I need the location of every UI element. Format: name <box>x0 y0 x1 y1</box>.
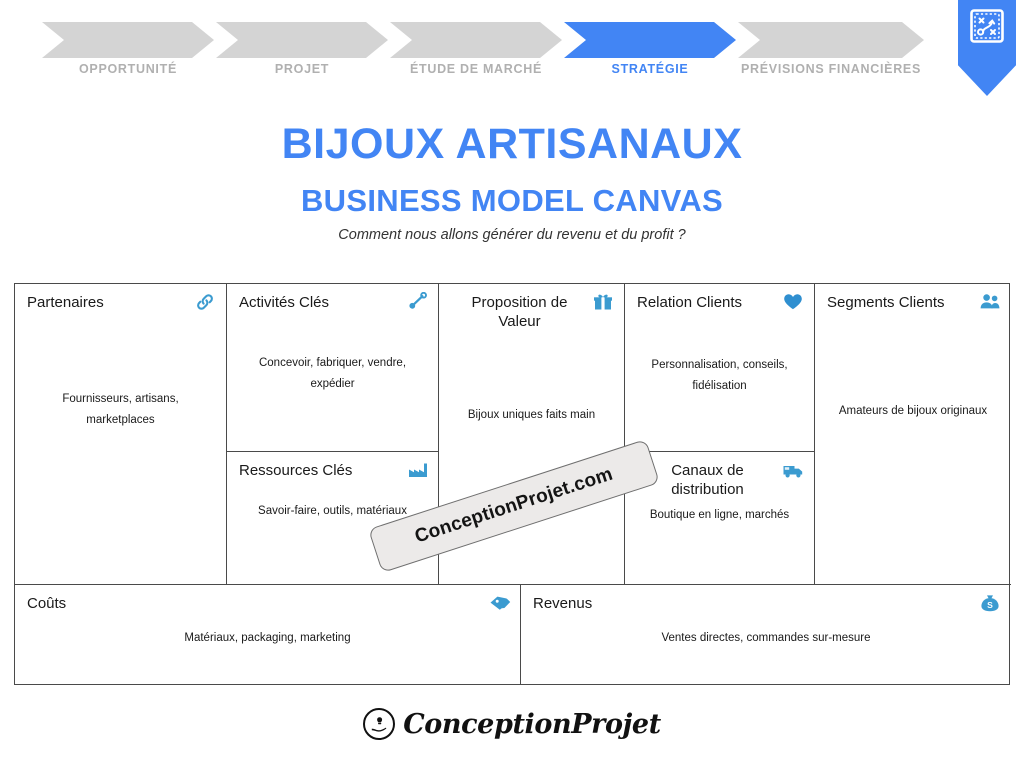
factory-icon <box>406 460 428 480</box>
footer-logo[interactable]: ConceptionProjet <box>0 708 1024 740</box>
step-arrow-shape <box>390 22 562 58</box>
cell-body: Concevoir, fabriquer, vendre, expédier <box>227 353 438 396</box>
cell-title: Revenus <box>533 594 1001 613</box>
cell-body: Matériaux, packaging, marketing <box>15 628 520 649</box>
gift-icon <box>592 292 614 312</box>
cell-title: Partenaires <box>27 293 216 312</box>
cell-title: Coûts <box>27 594 510 613</box>
cell-title: Activités Clés <box>239 293 428 312</box>
step-label: ÉTUDE DE MARCHÉ <box>390 62 562 76</box>
shovel-icon <box>406 292 428 312</box>
canvas-cell-segments-clients[interactable]: Segments Clients Amateurs de bijoux orig… <box>815 284 1011 584</box>
step-arrow-shape <box>738 22 924 58</box>
cell-body: Boutique en ligne, marchés <box>625 505 814 526</box>
cell-header: Ressources Clés <box>227 452 438 487</box>
step-opportunite[interactable]: OPPORTUNITÉ <box>42 22 214 58</box>
people-group-icon <box>979 292 1001 312</box>
cell-header: Relation Clients <box>625 284 814 319</box>
cell-header: Coûts <box>15 585 520 620</box>
page-tagline: Comment nous allons générer du revenu et… <box>0 227 1024 243</box>
cell-body: Ventes directes, commandes sur-mesure <box>521 628 1011 649</box>
hand-holding-lightbulb-icon <box>363 708 395 740</box>
chain-link-icon <box>194 292 216 312</box>
delivery-truck-icon <box>782 460 804 480</box>
cell-header: Revenus S <box>521 585 1011 620</box>
cell-title: Relation Clients <box>637 293 804 312</box>
page-subtitle: BUSINESS MODEL CANVAS <box>0 183 1024 219</box>
cell-body: Bijoux uniques faits main <box>439 405 624 426</box>
step-etude-de-marche[interactable]: ÉTUDE DE MARCHÉ <box>390 22 562 58</box>
cell-body: Fournisseurs, artisans, marketplaces <box>15 389 226 432</box>
step-arrow-shape <box>216 22 388 58</box>
cell-title: Ressources Clés <box>239 461 428 480</box>
step-strategie[interactable]: STRATÉGIE <box>564 22 736 58</box>
footer-brand-name: ConceptionProjet <box>403 709 661 740</box>
heart-icon <box>782 292 804 312</box>
canvas-cell-activites-cles[interactable]: Activités Clés Concevoir, fabriquer, ven… <box>227 284 439 452</box>
money-bag-icon: S <box>979 593 1001 613</box>
canvas-cell-relation-clients[interactable]: Relation Clients Personnalisation, conse… <box>625 284 815 452</box>
step-label: PRÉVISIONS FINANCIÈRES <box>738 62 924 76</box>
step-label: PROJET <box>216 62 388 76</box>
cell-body: Personnalisation, conseils, fidélisation <box>625 355 814 398</box>
cell-title: Segments Clients <box>827 293 1001 312</box>
cell-header: Proposition de Valeur <box>439 284 624 331</box>
cell-title: Proposition de Valeur <box>451 293 614 331</box>
strategy-playbook-icon <box>969 8 1005 44</box>
step-projet[interactable]: PROJET <box>216 22 388 58</box>
page-title: BIJOUX ARTISANAUX <box>0 122 1024 167</box>
cell-header: Segments Clients <box>815 284 1011 319</box>
strategy-flag-badge <box>958 0 1016 96</box>
step-label: OPPORTUNITÉ <box>42 62 214 76</box>
cell-title: Canaux de distribution <box>637 461 804 499</box>
cell-body: Amateurs de bijoux originaux <box>815 401 1011 422</box>
step-arrow-shape <box>564 22 736 58</box>
step-label: STRATÉGIE <box>564 62 736 76</box>
step-previsions-financieres[interactable]: PRÉVISIONS FINANCIÈRES <box>738 22 924 58</box>
process-step-bar: OPPORTUNITÉ PROJET ÉTUDE DE MARCHÉ STRAT… <box>0 0 1024 100</box>
step-arrow-shape <box>42 22 214 58</box>
canvas-cell-couts[interactable]: Coûts Matériaux, packaging, marketing <box>15 584 521 685</box>
cell-header: Activités Clés <box>227 284 438 319</box>
cell-header: Partenaires <box>15 284 226 319</box>
canvas-cell-partenaires[interactable]: Partenaires Fournisseurs, artisans, mark… <box>15 284 227 584</box>
svg-text:S: S <box>987 600 993 610</box>
canvas-cell-revenus[interactable]: Revenus S Ventes directes, commandes sur… <box>521 584 1011 685</box>
title-block: BIJOUX ARTISANAUX BUSINESS MODEL CANVAS … <box>0 122 1024 243</box>
price-tag-icon <box>488 593 510 613</box>
